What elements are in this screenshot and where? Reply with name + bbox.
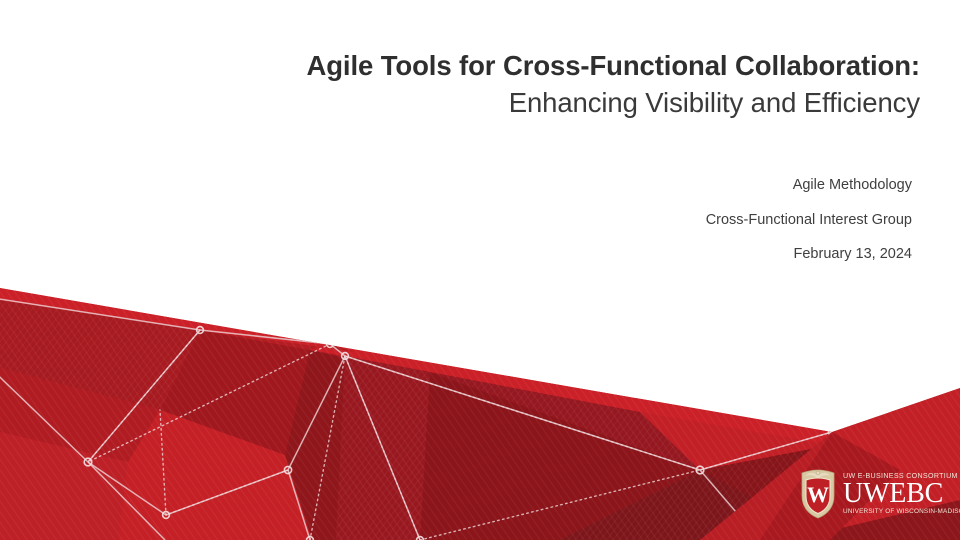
logo-tagline-bottom: UNIVERSITY OF WISCONSIN-MADISON xyxy=(843,509,960,515)
artwork-network-edges-dotted xyxy=(88,330,832,540)
presentation-title-slide: Agile Tools for Cross-Functional Collabo… xyxy=(0,0,960,540)
slide-title-line-1: Agile Tools for Cross-Functional Collabo… xyxy=(40,48,920,85)
slide-title: Agile Tools for Cross-Functional Collabo… xyxy=(40,48,920,122)
uwebc-logo: W UW E-BUSINESS CONSORTIUM UWEBC UNIVERS… xyxy=(796,466,948,522)
artwork-left-mass xyxy=(0,280,840,540)
artwork-network-nodes xyxy=(0,293,836,540)
subtitle-date: February 13, 2024 xyxy=(40,237,912,272)
svg-text:W: W xyxy=(807,482,829,507)
wisconsin-crest-icon: W xyxy=(796,468,840,520)
logo-wordmark: UWEBC xyxy=(843,481,960,507)
artwork-network-edges-solid xyxy=(0,296,832,540)
slide-subtitle: Agile Methodology Cross-Functional Inter… xyxy=(40,168,912,272)
slide-title-line-2: Enhancing Visibility and Efficiency xyxy=(40,85,920,122)
subtitle-group: Cross-Functional Interest Group xyxy=(40,203,912,238)
uwebc-logo-text: UW E-BUSINESS CONSORTIUM UWEBC UNIVERSIT… xyxy=(843,473,960,516)
subtitle-topic: Agile Methodology xyxy=(40,168,912,203)
